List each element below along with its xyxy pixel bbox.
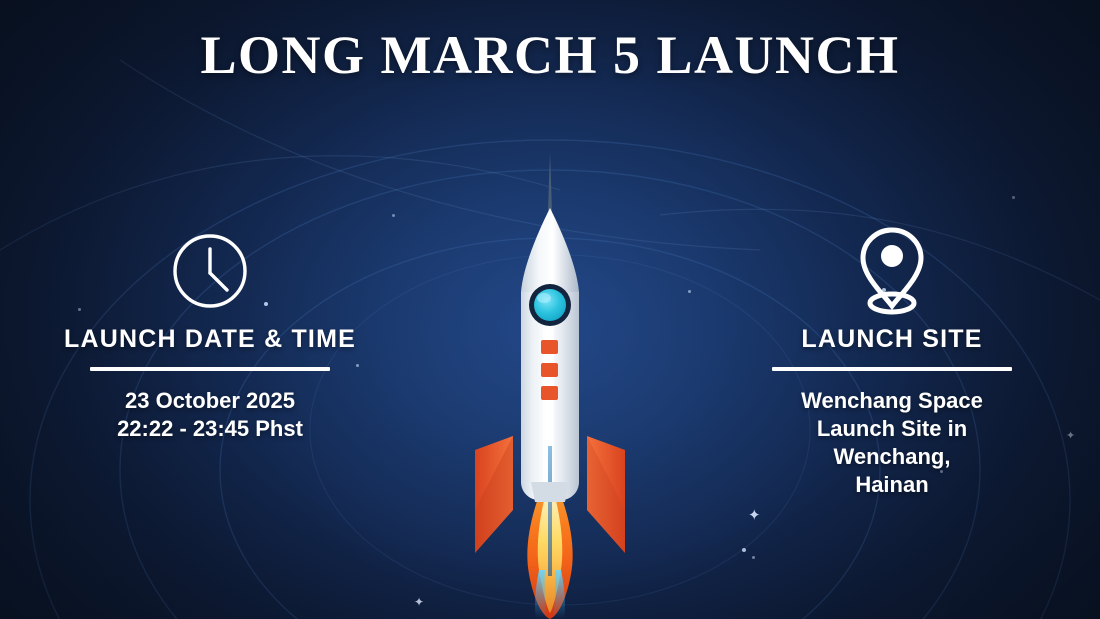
divider-left bbox=[90, 367, 330, 371]
sparkle-icon: ✦ bbox=[1066, 430, 1075, 441]
site-line-3: Wenchang, bbox=[742, 443, 1042, 471]
sparkle-icon: ✦ bbox=[748, 508, 761, 523]
clock-icon-wrap bbox=[60, 225, 360, 317]
sparkle-icon: ✦ bbox=[414, 596, 424, 608]
launch-date: 23 October 2025 bbox=[60, 387, 360, 415]
launch-site-panel: LAUNCH SITE Wenchang Space Launch Site i… bbox=[742, 225, 1042, 500]
site-line-2: Launch Site in bbox=[742, 415, 1042, 443]
launch-datetime-heading: LAUNCH DATE & TIME bbox=[60, 325, 360, 353]
divider-right bbox=[772, 367, 1012, 371]
star bbox=[742, 548, 746, 552]
heading-line-1: LAUNCH bbox=[64, 325, 177, 353]
clock-icon bbox=[168, 229, 252, 313]
rocket-illustration bbox=[435, 150, 665, 619]
location-pin-icon bbox=[853, 224, 931, 318]
launch-poster: ✦ ✦ ✦ bbox=[0, 0, 1100, 619]
site-line-4: Hainan bbox=[742, 471, 1042, 499]
launch-datetime-body: 23 October 2025 22:22 - 23:45 Phst bbox=[60, 387, 360, 443]
launch-site-body: Wenchang Space Launch Site in Wenchang, … bbox=[742, 387, 1042, 500]
star bbox=[688, 290, 691, 293]
location-pin-icon-wrap bbox=[742, 225, 1042, 317]
heading-line-2: DATE & TIME bbox=[185, 325, 356, 353]
star bbox=[1012, 196, 1015, 199]
launch-datetime-panel: LAUNCH DATE & TIME 23 October 2025 22:22… bbox=[60, 225, 360, 443]
launch-site-heading: LAUNCH SITE bbox=[742, 325, 1042, 353]
site-line-1: Wenchang Space bbox=[742, 387, 1042, 415]
page-title: LONG MARCH 5 LAUNCH bbox=[0, 24, 1100, 86]
star bbox=[752, 556, 755, 559]
launch-time-window: 22:22 - 23:45 Phst bbox=[60, 415, 360, 443]
heading-line-1: LAUNCH SITE bbox=[801, 325, 982, 353]
star bbox=[392, 214, 395, 217]
